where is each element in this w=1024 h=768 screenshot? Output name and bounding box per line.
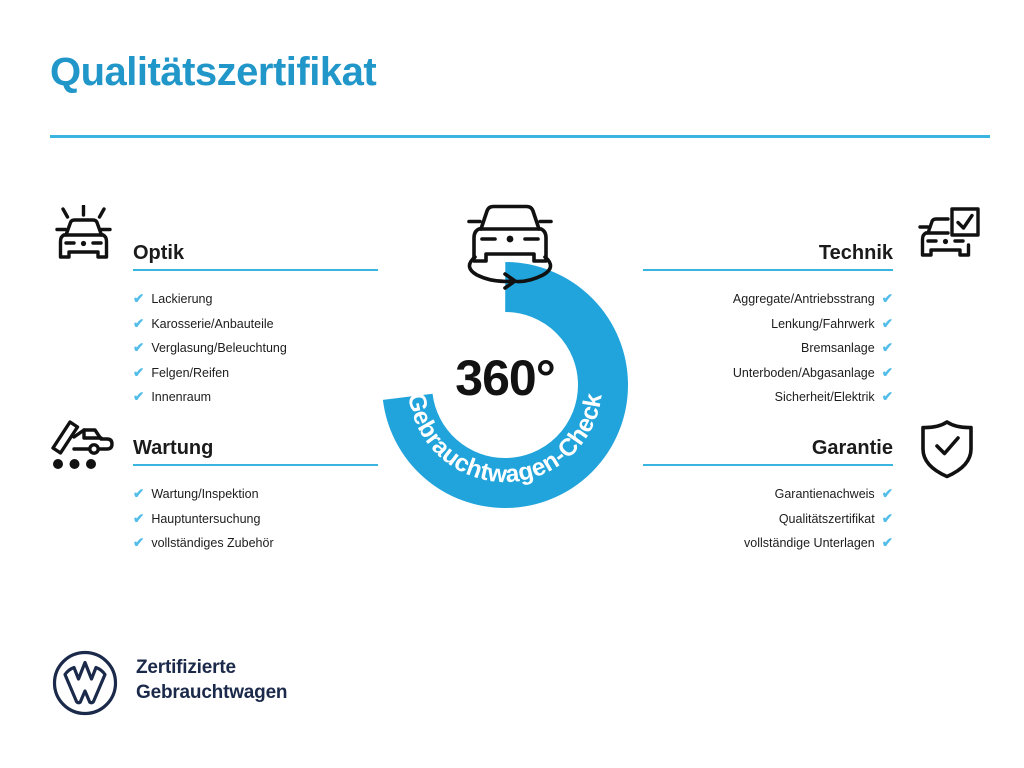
check-icon: ✔ <box>133 385 144 409</box>
check-icon: ✔ <box>133 531 144 555</box>
list-item-label: Unterboden/Abgasanlage <box>733 362 875 386</box>
footer-line-1: Zertifizierte <box>136 655 287 680</box>
check-icon: ✔ <box>133 287 144 311</box>
section-wartung: Wartung ✔ Wartung/Inspektion ✔ Hauptunte… <box>133 435 378 556</box>
check-icon: ✔ <box>882 482 893 506</box>
section-technik-divider <box>643 269 893 271</box>
list-item-label: Qualitätszertifikat <box>779 508 875 532</box>
check-icon: ✔ <box>882 336 893 360</box>
list-item-label: Lenkung/Fahrwerk <box>771 313 875 337</box>
section-wartung-title: Wartung <box>133 435 378 461</box>
section-technik: Technik Aggregate/Antriebsstrang ✔ Lenku… <box>643 240 893 410</box>
list-item: ✔ Wartung/Inspektion <box>133 482 378 507</box>
shield-check-icon <box>918 418 976 480</box>
list-item: Unterboden/Abgasanlage ✔ <box>643 361 893 386</box>
section-garantie-divider <box>643 464 893 466</box>
list-item: Bremsanlage ✔ <box>643 336 893 361</box>
list-item: ✔ Verglasung/Beleuchtung <box>133 336 378 361</box>
section-garantie-list: Garantienachweis ✔ Qualitätszertifikat ✔… <box>643 482 893 556</box>
check-icon: ✔ <box>133 361 144 385</box>
page-title: Qualitätszertifikat <box>50 50 376 94</box>
list-item: Garantienachweis ✔ <box>643 482 893 507</box>
vw-logo-icon <box>52 650 118 716</box>
list-item-label: vollständiges Zubehör <box>151 532 273 556</box>
list-item-label: Felgen/Reifen <box>151 362 229 386</box>
section-technik-list: Aggregate/Antriebsstrang ✔ Lenkung/Fahrw… <box>643 287 893 410</box>
list-item: ✔ Innenraum <box>133 385 378 410</box>
certificate-page: Qualitätszertifikat <box>0 0 1024 768</box>
list-item-label: Hauptuntersuchung <box>151 508 260 532</box>
section-optik-list: ✔ Lackierung ✔ Karosserie/Anbauteile ✔ V… <box>133 287 378 410</box>
list-item-label: Lackierung <box>151 288 212 312</box>
section-optik: Optik ✔ Lackierung ✔ Karosserie/Anbautei… <box>133 240 378 410</box>
list-item-label: Karosserie/Anbauteile <box>151 313 273 337</box>
section-optik-divider <box>133 269 378 271</box>
check-icon: ✔ <box>133 312 144 336</box>
section-optik-title: Optik <box>133 240 378 266</box>
list-item-label: Aggregate/Antriebsstrang <box>733 288 875 312</box>
list-item: ✔ Lackierung <box>133 287 378 312</box>
list-item-label: Garantienachweis <box>775 483 875 507</box>
list-item-label: vollständige Unterlagen <box>744 532 875 556</box>
section-garantie-header: Garantie <box>643 435 893 469</box>
check-icon: ✔ <box>882 361 893 385</box>
section-technik-title: Technik <box>643 240 893 266</box>
section-technik-header: Technik <box>643 240 893 274</box>
list-item-label: Verglasung/Beleuchtung <box>151 337 287 361</box>
list-item-label: Innenraum <box>151 386 211 410</box>
section-garantie-title: Garantie <box>643 435 893 461</box>
check-icon: ✔ <box>133 507 144 531</box>
check-icon: ✔ <box>882 531 893 555</box>
check-icon: ✔ <box>133 336 144 360</box>
list-item-label: Bremsanlage <box>801 337 875 361</box>
check-icon: ✔ <box>133 482 144 506</box>
footer-brand-text: Zertifizierte Gebrauchtwagen <box>136 655 287 705</box>
title-divider <box>50 135 990 138</box>
check-icon: ✔ <box>882 287 893 311</box>
list-item: vollständige Unterlagen ✔ <box>643 531 893 556</box>
car-shine-icon <box>48 205 120 270</box>
check-icon: ✔ <box>882 507 893 531</box>
section-wartung-header: Wartung <box>133 435 378 469</box>
section-wartung-list: ✔ Wartung/Inspektion ✔ Hauptuntersuchung… <box>133 482 378 556</box>
list-item-label: Wartung/Inspektion <box>151 483 258 507</box>
list-item: ✔ Felgen/Reifen <box>133 361 378 386</box>
list-item: Aggregate/Antriebsstrang ✔ <box>643 287 893 312</box>
list-item: Sicherheit/Elektrik ✔ <box>643 385 893 410</box>
car-front-rotate-icon <box>455 195 565 295</box>
section-garantie: Garantie Garantienachweis ✔ Qualitätszer… <box>643 435 893 556</box>
section-optik-header: Optik <box>133 240 378 274</box>
footer-line-2: Gebrauchtwagen <box>136 680 287 705</box>
list-item: ✔ Hauptuntersuchung <box>133 507 378 532</box>
section-wartung-divider <box>133 464 378 466</box>
list-item: ✔ vollständiges Zubehör <box>133 531 378 556</box>
check-icon: ✔ <box>882 312 893 336</box>
list-item: Lenkung/Fahrwerk ✔ <box>643 312 893 337</box>
check-icon: ✔ <box>882 385 893 409</box>
car-lift-oilchange-icon <box>48 415 120 477</box>
list-item: Qualitätszertifikat ✔ <box>643 507 893 532</box>
list-item-label: Sicherheit/Elektrik <box>775 386 875 410</box>
car-checkbox-icon <box>908 205 980 270</box>
list-item: ✔ Karosserie/Anbauteile <box>133 312 378 337</box>
